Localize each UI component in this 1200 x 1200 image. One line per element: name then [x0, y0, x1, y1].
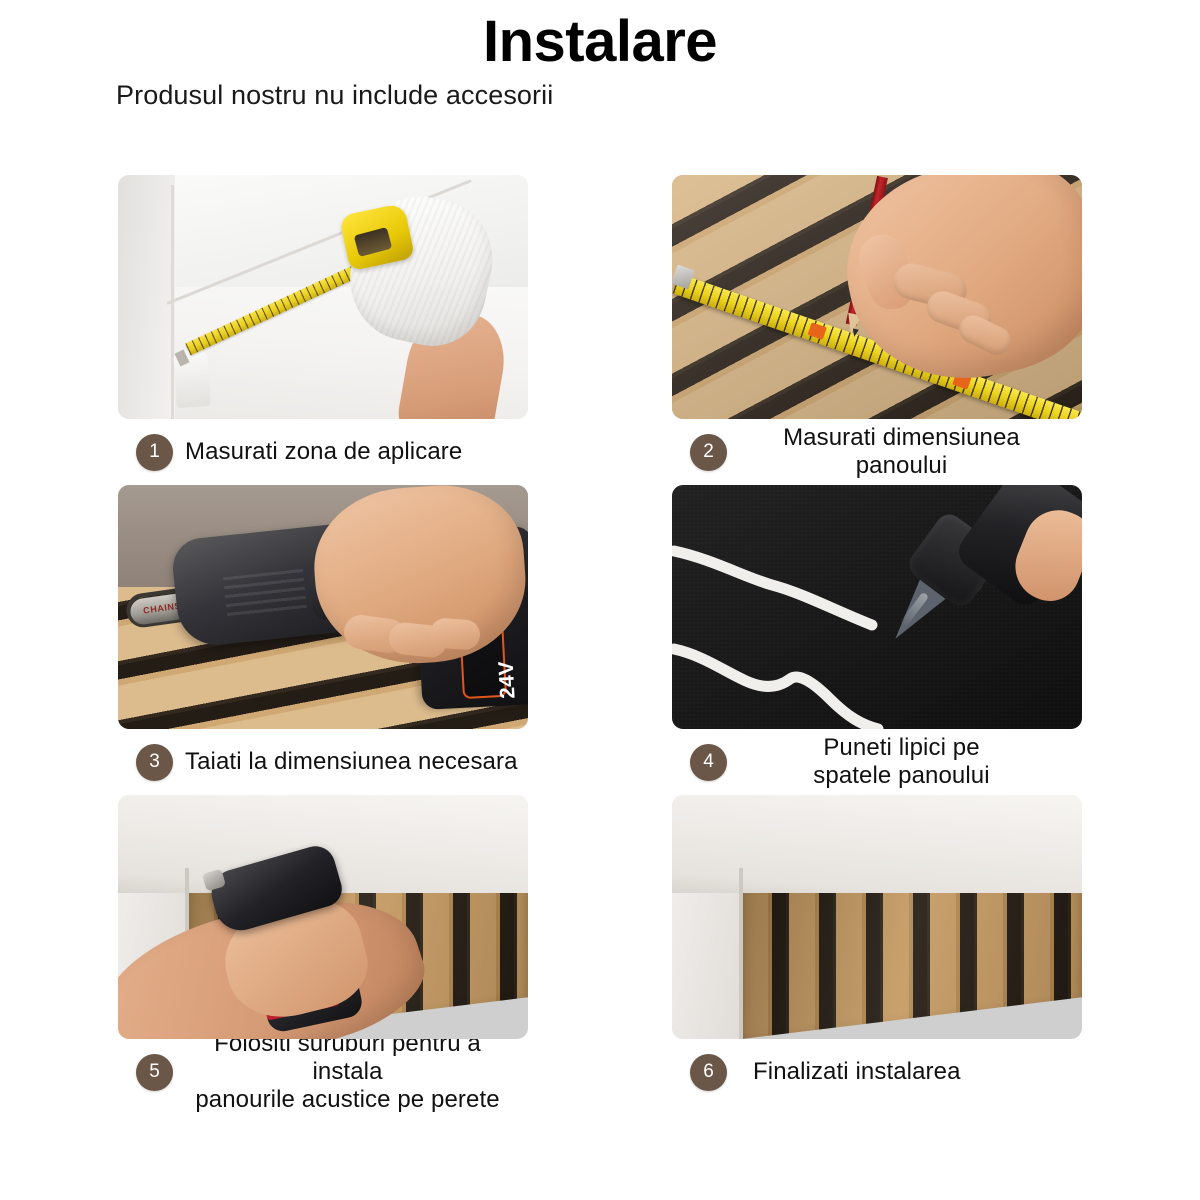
step-1-badge: 1: [136, 434, 173, 471]
step-1-photo: [118, 175, 528, 419]
step-1-label: Masurati zona de aplicare: [185, 438, 462, 466]
pencil-lead: [851, 328, 859, 337]
step-row-2: CHAINSAW F.EASY.D 24V 3 Taiati la dimens…: [118, 485, 1082, 795]
step-4-photo: [672, 485, 1082, 729]
step-5-label: Folositi suruburi pentru a instala panou…: [185, 1030, 510, 1113]
ceiling-surface: [672, 795, 1082, 893]
battery-voltage-text: 24V: [494, 661, 520, 700]
step-3-badge: 3: [136, 744, 173, 781]
step-2-badge: 2: [690, 434, 727, 471]
page-title: Instalare: [0, 8, 1200, 75]
step-2-label-line-1: Masurati dimensiunea: [739, 424, 1064, 452]
step-2-photo: [672, 175, 1082, 419]
chainsaw-vents: [223, 569, 307, 617]
step-6-label: Finalizati instalarea: [753, 1058, 961, 1086]
step-card-3: CHAINSAW F.EASY.D 24V 3 Taiati la dimens…: [118, 485, 528, 795]
page-subtitle: Produsul nostru nu include accesorii: [116, 80, 553, 111]
step-2-label-line-2: panoului: [739, 452, 1064, 480]
step-2-label: Masurati dimensiunea panoului: [739, 424, 1064, 480]
step-card-5: 5 Folositi suruburi pentru a instala pan…: [118, 795, 528, 1105]
step-5-photo: [118, 795, 528, 1039]
step-5-label-line-2: panourile acustice pe perete: [185, 1086, 510, 1114]
step-4-caption: 4 Puneti lipici pe spatele panoului: [672, 729, 1082, 795]
step-4-label-line-2: spatele panoului: [739, 762, 1064, 790]
step-6-badge: 6: [690, 1054, 727, 1091]
step-card-1: 1 Masurati zona de aplicare: [118, 175, 528, 485]
step-4-label-line-1: Puneti lipici pe: [739, 734, 1064, 762]
step-3-caption: 3 Taiati la dimensiunea necesara: [118, 729, 528, 795]
step-5-caption: 5 Folositi suruburi pentru a instala pan…: [118, 1039, 528, 1105]
step-1-caption: 1 Masurati zona de aplicare: [118, 419, 528, 485]
step-3-photo: CHAINSAW F.EASY.D 24V: [118, 485, 528, 729]
side-wall: [118, 175, 175, 419]
step-row-1: 1 Masurati zona de aplicare: [118, 175, 1082, 485]
step-4-label: Puneti lipici pe spatele panoului: [739, 734, 1064, 790]
step-6-caption: 6 Finalizati instalarea: [672, 1039, 1082, 1105]
step-4-badge: 4: [690, 744, 727, 781]
step-2-caption: 2 Masurati dimensiunea panoului: [672, 419, 1082, 485]
step-row-3: 5 Folositi suruburi pentru a instala pan…: [118, 795, 1082, 1105]
step-card-4: 4 Puneti lipici pe spatele panoului: [672, 485, 1082, 795]
step-card-2: 2 Masurati dimensiunea panoului: [672, 175, 1082, 485]
wall-corner-line: [739, 868, 743, 1039]
step-6-photo: [672, 795, 1082, 1039]
step-3-label: Taiati la dimensiunea necesara: [185, 748, 518, 776]
finger: [429, 617, 481, 650]
step-5-badge: 5: [136, 1054, 173, 1091]
step-card-6: 6 Finalizati instalarea: [672, 795, 1082, 1105]
installation-steps-grid: 1 Masurati zona de aplicare: [118, 175, 1082, 1105]
